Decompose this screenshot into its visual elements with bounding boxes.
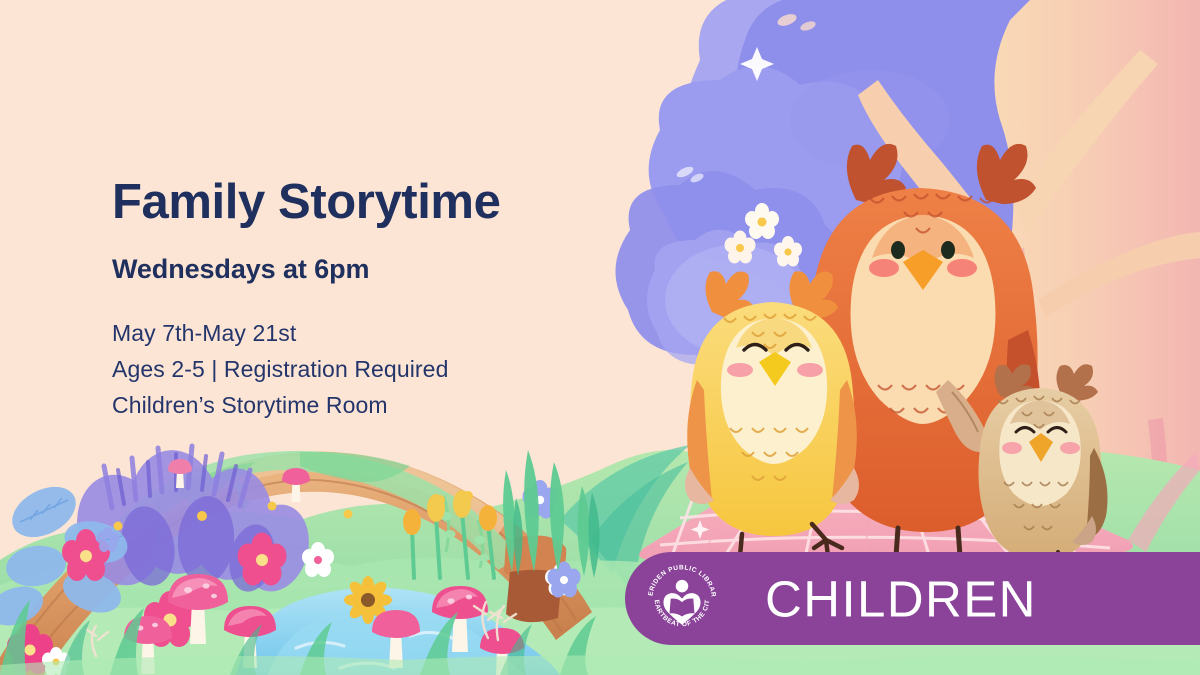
event-date-range: May 7th-May 21st [112, 315, 582, 351]
category-label: CHILDREN [765, 573, 1037, 624]
event-text-block: Family Storytime Wednesdays at 6pm May 7… [112, 176, 582, 424]
event-poster: Family Storytime Wednesdays at 6pm May 7… [0, 0, 1200, 675]
category-banner: MERIDEN PUBLIC LIBRARY HEARTBEAT OF THE … [625, 552, 1200, 645]
event-schedule: Wednesdays at 6pm [112, 255, 582, 285]
event-ages-registration: Ages 2-5 | Registration Required [112, 351, 582, 387]
page-title: Family Storytime [112, 176, 582, 229]
event-details: May 7th-May 21st Ages 2-5 | Registration… [112, 315, 582, 424]
event-location: Children’s Storytime Room [112, 387, 582, 423]
library-logo: MERIDEN PUBLIC LIBRARY HEARTBEAT OF THE … [643, 560, 721, 638]
